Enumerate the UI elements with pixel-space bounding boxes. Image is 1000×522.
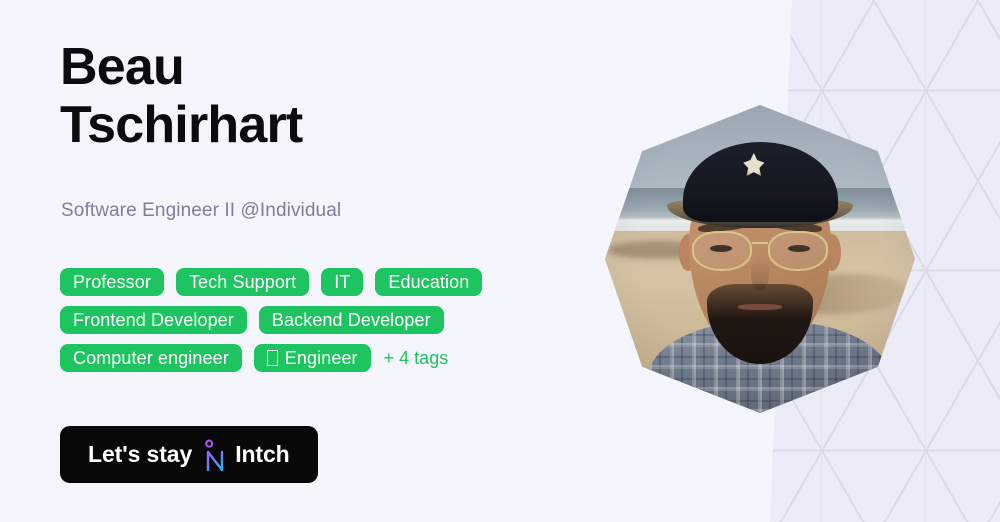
photo-lens-right <box>768 231 828 271</box>
tag-backend-developer[interactable]: Backend Developer <box>259 306 444 334</box>
avatar-hexagon-clip <box>605 105 915 413</box>
photo-lens-left <box>692 231 752 271</box>
intch-logo-icon <box>202 439 228 473</box>
tag-it[interactable]: IT <box>321 268 363 296</box>
tag-computer-engineer[interactable]: Computer engineer <box>60 344 242 372</box>
tag-list: Professor Tech Support IT Education Fron… <box>60 268 580 372</box>
more-tags-label[interactable]: + 4 tags <box>383 344 449 372</box>
tag-frontend-developer[interactable]: Frontend Developer <box>60 306 247 334</box>
photo-glasses <box>692 231 828 271</box>
tag-professor[interactable]: Professor <box>60 268 164 296</box>
photo-mouth <box>738 304 781 310</box>
tag-education[interactable]: Education <box>375 268 482 296</box>
cta-brand-label: Intch <box>235 441 289 468</box>
tag-tech-support[interactable]: Tech Support <box>176 268 309 296</box>
missing-glyph-icon <box>267 350 278 366</box>
tag-engineer[interactable]: Engineer <box>254 344 371 372</box>
profile-content: Beau Tschirhart Software Engineer II @In… <box>60 0 580 522</box>
tag-engineer-label: Engineer <box>285 344 358 372</box>
photo-glasses-bridge <box>752 242 768 244</box>
avatar <box>605 105 915 413</box>
cta-prefix-label: Let's stay <box>88 441 192 468</box>
profile-card: Beau Tschirhart Software Engineer II @In… <box>0 0 1000 522</box>
lets-stay-intch-button[interactable]: Let's stay Intch <box>60 426 318 483</box>
profile-headline: Software Engineer II @Individual <box>61 198 341 224</box>
profile-name: Beau Tschirhart <box>60 38 302 154</box>
